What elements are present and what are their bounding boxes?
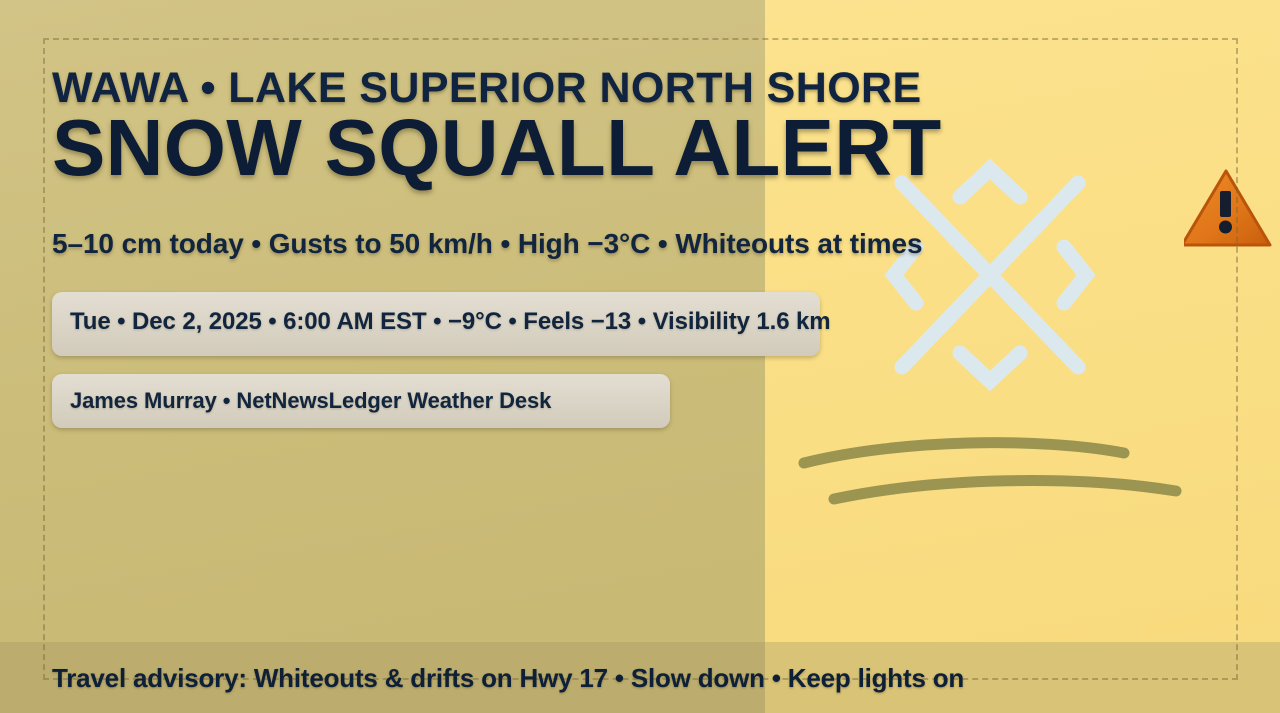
warning-triangle-icon [1184,165,1280,251]
weather-conditions-text: Tue • Dec 2, 2025 • 6:00 AM EST • −9°C •… [70,308,831,336]
forecast-summary: 5–10 cm today • Gusts to 50 km/h • High … [52,228,922,260]
snow-drift-lines-icon [790,425,1190,515]
byline-text: James Murray • NetNewsLedger Weather Des… [70,388,551,414]
alert-graphic-canvas: WAWA • LAKE SUPERIOR NORTH SHORE SNOW SQ… [0,0,1280,713]
travel-advisory-text: Travel advisory: Whiteouts & drifts on H… [52,663,964,694]
headline: SNOW SQUALL ALERT [52,108,942,188]
